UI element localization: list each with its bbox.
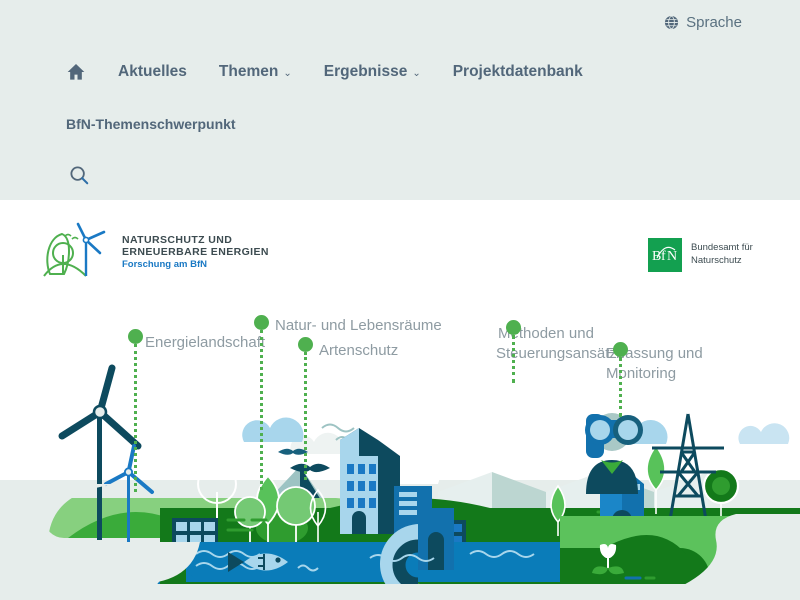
project-logo-line2: ERNEUERBARE ENERGIEN [122, 247, 269, 259]
nav-item-projektdatenbank[interactable]: Projektdatenbank [453, 63, 583, 81]
nav-item-aktuelles[interactable]: Aktuelles [118, 63, 187, 81]
bfn-logo-mark: B f N [648, 238, 682, 272]
illustration-scene [0, 296, 800, 600]
label-energielandschaft[interactable]: Energielandschaft [145, 333, 265, 353]
language-selector[interactable]: Sprache [664, 14, 742, 31]
label-leader-methoden-und-steuerungsansaetze [512, 335, 515, 383]
house-door [352, 511, 366, 534]
label-leader-erfassung-und-monitoring [619, 357, 622, 417]
bfn-monogram-text: B [652, 249, 661, 264]
nav-label-projektdatenbank: Projektdatenbank [453, 63, 583, 81]
label-dot-methoden-und-steuerungsansaetze[interactable] [506, 320, 521, 335]
nav-label-aktuelles: Aktuelles [118, 63, 187, 81]
page-root: Sprache Aktuelles Themen ⌄ Ergebnisse ⌄ … [0, 0, 800, 600]
label-dot-natur-und-lebensraeume[interactable] [254, 315, 269, 330]
project-logo-text: NATURSCHUTZ UND ERNEUERBARE ENERGIEN For… [122, 235, 269, 270]
house-windows [347, 464, 376, 508]
nav-label-themen: Themen [219, 63, 278, 81]
nav-item-ergebnisse[interactable]: Ergebnisse ⌄ [324, 63, 421, 81]
label-artenschutz[interactable]: Artenschutz [319, 341, 398, 361]
globe-icon [664, 15, 679, 30]
nav-label-ergebnisse: Ergebnisse [324, 63, 408, 81]
project-logo[interactable]: NATURSCHUTZ UND ERNEUERBARE ENERGIEN For… [38, 222, 269, 284]
bfn-logo-line2: Naturschutz [691, 255, 753, 268]
label-dot-energielandschaft[interactable] [128, 329, 143, 344]
chevron-down-icon: ⌄ [283, 68, 291, 79]
label-leader-natur-und-lebensraeume [260, 330, 263, 490]
label-leader-artenschutz [304, 352, 307, 480]
project-logo-mark [38, 222, 112, 284]
nav-item-themen[interactable]: Themen ⌄ [219, 63, 292, 81]
label-leader-energielandschaft [134, 344, 137, 492]
label-natur-und-lebensraeume[interactable]: Natur- und Lebensräume [275, 316, 442, 336]
bird-silhouette-1 [322, 425, 354, 432]
bfn-logo-text: Bundesamt für Naturschutz [691, 242, 753, 268]
hero-illustration: Energielandschaft Natur- und Lebensräume… [0, 296, 800, 600]
bfn-logo-line1: Bundesamt für [691, 242, 753, 255]
project-logo-line3: Forschung am BfN [122, 260, 269, 271]
chevron-down-icon: ⌄ [412, 68, 420, 79]
bfn-logo[interactable]: B f N Bundesamt für Naturschutz [648, 238, 753, 272]
search-icon[interactable] [68, 164, 90, 186]
bfn-monogram-text-3: N [667, 249, 677, 264]
home-icon[interactable] [66, 62, 86, 82]
language-label: Sprache [686, 14, 742, 31]
bfn-monogram-icon: B f N [648, 238, 682, 272]
main-navigation: Aktuelles Themen ⌄ Ergebnisse ⌄ Projektd… [66, 62, 583, 82]
observer-binoculars [585, 413, 643, 494]
label-dot-erfassung-und-monitoring[interactable] [613, 342, 628, 357]
label-dot-artenschutz[interactable] [298, 337, 313, 352]
subnav-bfn-themenschwerpunkt[interactable]: BfN-Themenschwerpunkt [66, 116, 236, 132]
site-header: Sprache Aktuelles Themen ⌄ Ergebnisse ⌄ … [0, 0, 800, 200]
